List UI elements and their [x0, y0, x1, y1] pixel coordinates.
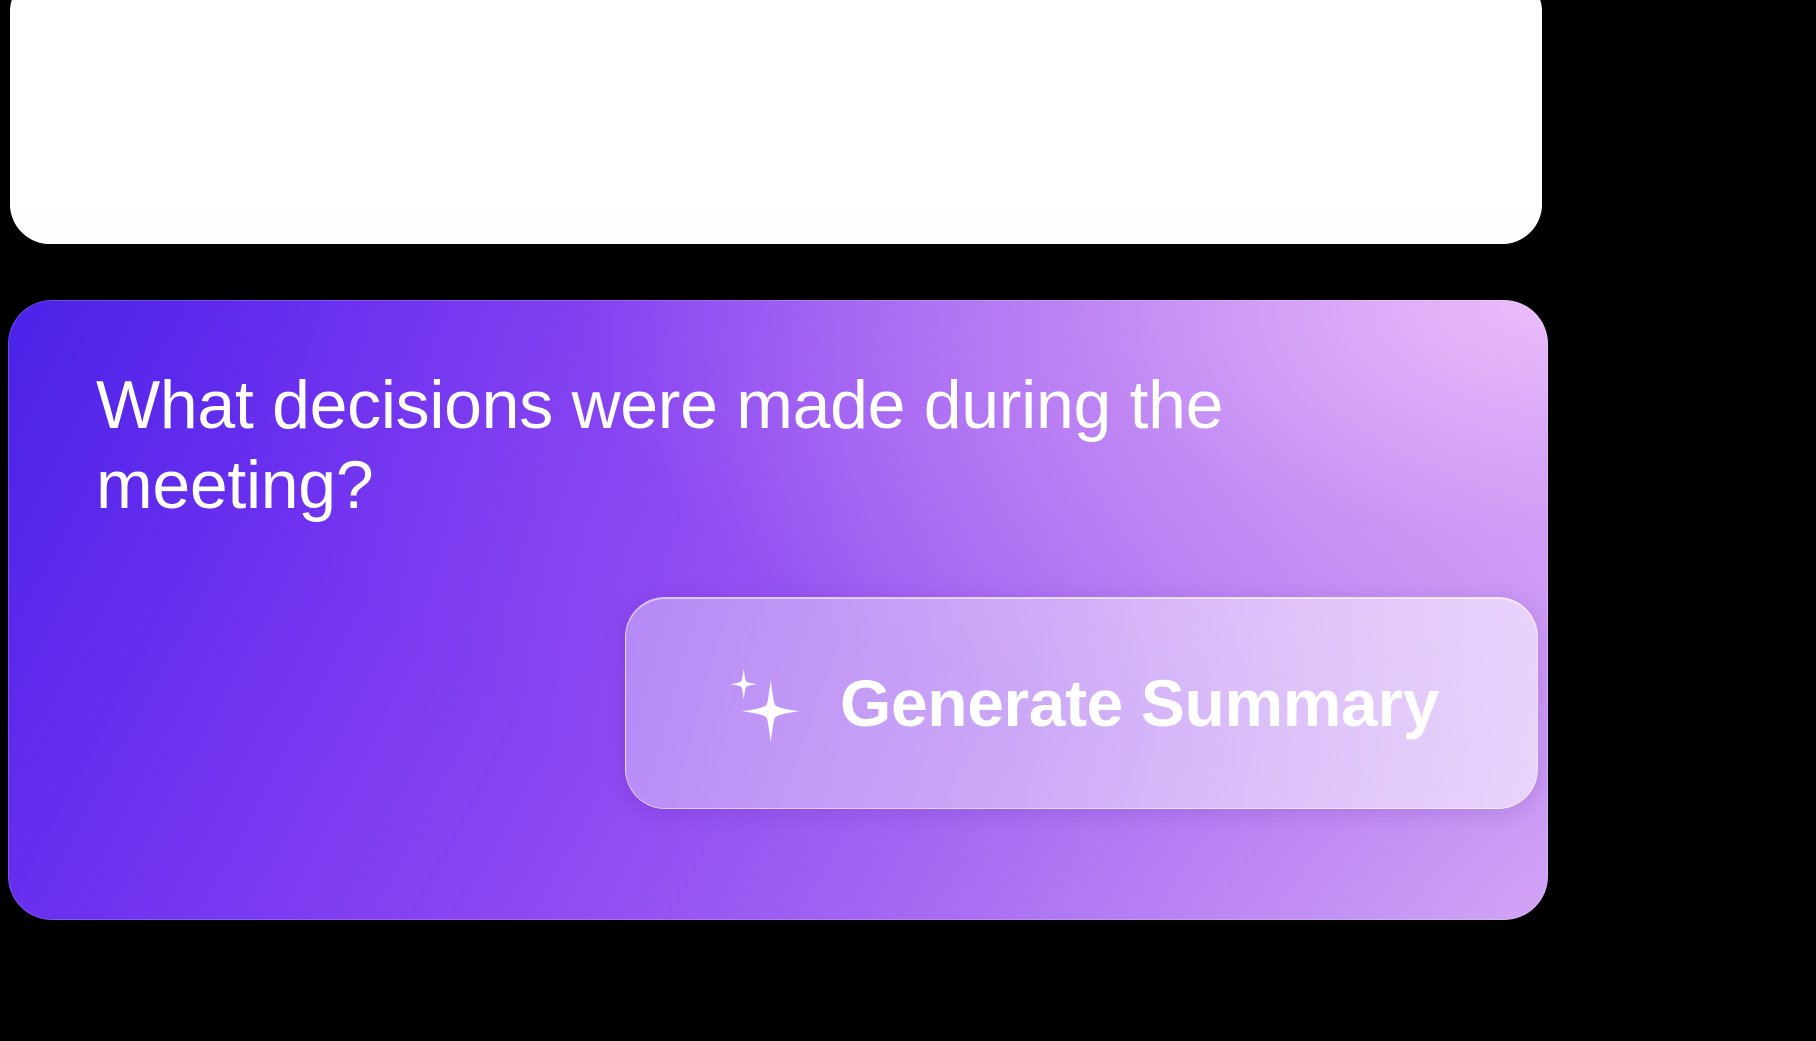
generate-summary-button[interactable]: Generate Summary: [625, 597, 1538, 809]
sparkles-icon: [724, 662, 806, 744]
answer-panel-surface: [10, 0, 1542, 244]
generate-summary-label: Generate Summary: [840, 670, 1439, 736]
prompt-question-text: What decisions were made during the meet…: [96, 366, 1436, 525]
app-stage: What decisions were made during the meet…: [0, 0, 1816, 1041]
answer-panel: [10, 0, 1542, 244]
